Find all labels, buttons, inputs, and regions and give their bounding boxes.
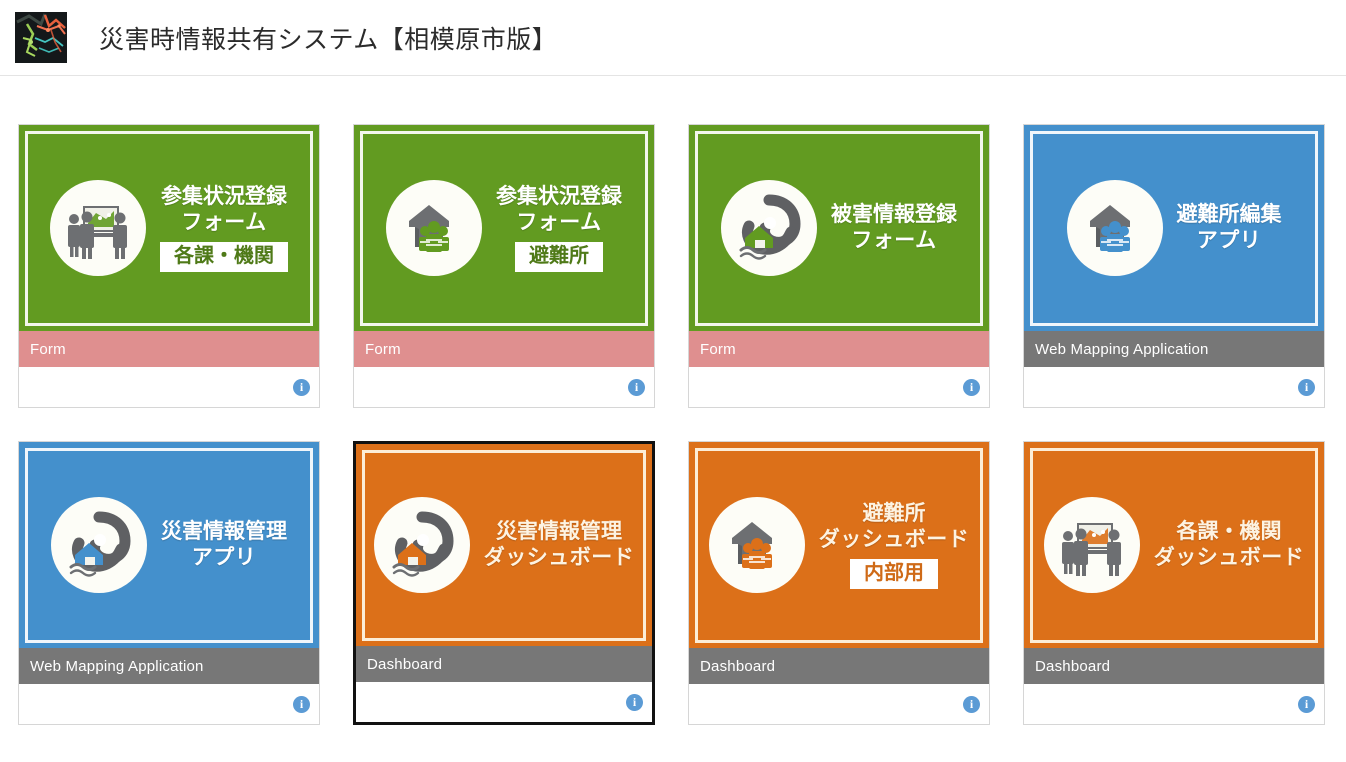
card-actions: i [689,367,989,407]
card-type-label: Dashboard [700,658,775,675]
card-title-line2: フォーム [181,210,266,236]
card-type-label: Web Mapping Application [30,658,204,675]
info-icon[interactable]: i [1298,696,1315,713]
card-type-label: Dashboard [1035,658,1110,675]
card-title-line2: フォーム [851,228,936,254]
map-network-thumbnail [15,12,67,63]
card-thumbnail[interactable]: 災害情報管理 アプリ [19,442,319,648]
shelter-people-icon [1067,180,1163,276]
card-type-label: Dashboard [367,656,442,673]
app-header: 災害時情報共有システム【相模原市版】 [0,0,1346,76]
info-icon[interactable]: i [626,694,643,711]
info-icon[interactable]: i [628,379,645,396]
gallery-card[interactable]: 被害情報登録 フォーム Form i [688,124,990,408]
card-thumbnail[interactable]: 参集状況登録 フォーム 避難所 [354,125,654,331]
card-type-label: Form [700,341,736,358]
item-gallery: 参集状況登録 フォーム 各課・機関 Form i [0,76,1346,725]
card-type-footer: Dashboard [356,646,652,682]
card-thumbnail[interactable]: 参集状況登録 フォーム 各課・機関 [19,125,319,331]
card-thumbnail-text: 各課・機関 ダッシュボード [1154,519,1305,570]
card-thumbnail-text: 避難所 ダッシュボード 内部用 [819,501,970,589]
card-type-footer: Web Mapping Application [1024,331,1324,367]
card-thumbnail[interactable]: 避難所編集 アプリ [1024,125,1324,331]
gallery-card[interactable]: 避難所 ダッシュボード 内部用 Dashboard i [688,441,990,725]
card-title-line2: ダッシュボード [1154,545,1305,571]
card-thumbnail[interactable]: 避難所 ダッシュボード 内部用 [689,442,989,648]
card-badge: 避難所 [515,242,603,272]
card-actions: i [356,682,652,722]
card-actions: i [19,367,319,407]
card-thumbnail-text: 災害情報管理 アプリ [161,519,287,570]
card-title-line2: アプリ [1197,228,1262,254]
people-map-briefing-icon [50,180,146,276]
card-thumbnail-text: 参集状況登録 フォーム 避難所 [496,184,622,272]
card-type-footer: Form [19,331,319,367]
typhoon-flooded-house-icon [51,497,147,593]
gallery-card[interactable]: 災害情報管理 アプリ Web Mapping Application i [18,441,320,725]
info-icon[interactable]: i [1298,379,1315,396]
card-title-line2: アプリ [192,545,257,571]
card-type-footer: Dashboard [1024,648,1324,684]
typhoon-flooded-house-icon [721,180,817,276]
typhoon-flooded-house-icon [374,497,470,593]
card-actions: i [19,684,319,724]
gallery-card[interactable]: 参集状況登録 フォーム 避難所 Form i [353,124,655,408]
card-thumbnail[interactable]: 各課・機関 ダッシュボード [1024,442,1324,648]
card-title-line1: 各課・機関 [1177,519,1282,545]
card-actions: i [1024,367,1324,407]
card-type-label: Web Mapping Application [1035,341,1209,358]
card-actions: i [689,684,989,724]
card-title-line2: ダッシュボード [819,527,970,553]
card-title-line1: 参集状況登録 [161,184,287,210]
card-title-line1: 避難所編集 [1177,202,1282,228]
card-thumbnail-text: 災害情報管理 ダッシュボード [484,519,635,570]
card-type-footer: Web Mapping Application [19,648,319,684]
card-title-line1: 災害情報管理 [161,519,287,545]
card-badge: 各課・機関 [160,242,288,272]
card-actions: i [1024,684,1324,724]
card-title-line2: ダッシュボード [484,545,635,571]
card-thumbnail[interactable]: 被害情報登録 フォーム [689,125,989,331]
gallery-card[interactable]: 避難所編集 アプリ Web Mapping Application i [1023,124,1325,408]
page-title: 災害時情報共有システム【相模原市版】 [99,20,557,56]
card-actions: i [354,367,654,407]
gallery-card[interactable]: 災害情報管理 ダッシュボード Dashboard i [353,441,655,725]
card-type-footer: Form [689,331,989,367]
card-title-line1: 災害情報管理 [496,519,622,545]
card-title-line1: 参集状況登録 [496,184,622,210]
people-map-briefing-icon [1044,497,1140,593]
gallery-card[interactable]: 参集状況登録 フォーム 各課・機関 Form i [18,124,320,408]
gallery-card[interactable]: 各課・機関 ダッシュボード Dashboard i [1023,441,1325,725]
card-title-line2: フォーム [516,210,601,236]
info-icon[interactable]: i [293,379,310,396]
info-icon[interactable]: i [963,696,980,713]
info-icon[interactable]: i [963,379,980,396]
card-badge: 内部用 [850,559,938,589]
card-thumbnail-text: 被害情報登録 フォーム [831,202,957,253]
card-thumbnail[interactable]: 災害情報管理 ダッシュボード [356,444,652,646]
card-type-label: Form [30,341,66,358]
card-thumbnail-text: 避難所編集 アプリ [1177,202,1282,253]
card-type-footer: Form [354,331,654,367]
card-thumbnail-text: 参集状況登録 フォーム 各課・機関 [160,184,288,272]
card-type-footer: Dashboard [689,648,989,684]
shelter-people-icon [709,497,805,593]
info-icon[interactable]: i [293,696,310,713]
shelter-people-icon [386,180,482,276]
card-title-line1: 避難所 [863,501,926,527]
card-type-label: Form [365,341,401,358]
card-title-line1: 被害情報登録 [831,202,957,228]
